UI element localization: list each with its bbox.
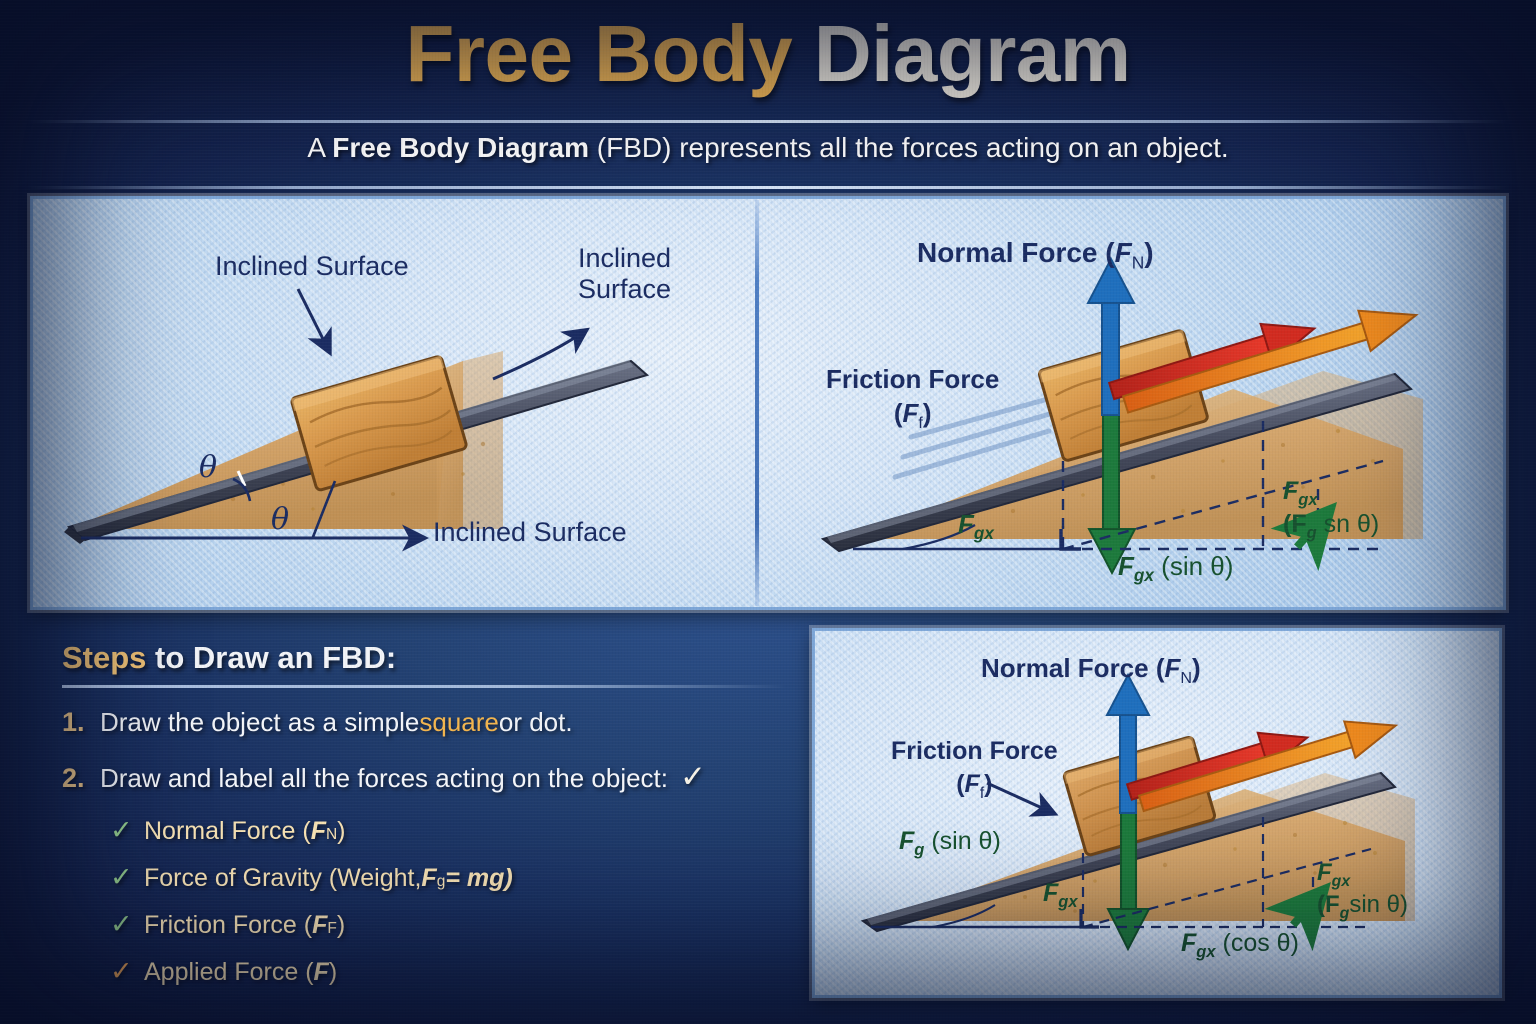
- friction-force-symbol: F: [902, 398, 918, 428]
- fgx-right-line2-bottom: (Fgsin θ): [1317, 891, 1408, 923]
- force-checklist-item-normal: ✓ Normal Force (FN): [110, 817, 802, 846]
- fgx-right-paren-bottom: (F: [1317, 891, 1340, 918]
- force-label-normal: Normal Force (: [144, 817, 311, 846]
- steps-heading-gold: Steps: [62, 640, 146, 675]
- theta-upper-label: θ: [199, 450, 217, 485]
- friction-force-text: Friction Force: [826, 363, 999, 397]
- fgx-right-symbol: F: [1283, 477, 1298, 505]
- steps-divider: [62, 685, 786, 688]
- fgx-sin-symbol: F: [1118, 551, 1134, 581]
- force-label-applied: Applied Force (: [144, 958, 314, 987]
- step-2-text-before: Draw and label all the forces acting on …: [100, 763, 668, 794]
- step-item-2: 2. Draw and label all the forces acting …: [62, 761, 802, 794]
- fg-sin-symbol: F: [899, 827, 914, 855]
- force-checklist-item-applied: ✓ Applied Force (F): [110, 958, 802, 987]
- friction-force-subscript-bottom: f: [980, 785, 984, 802]
- fgx-right-paren-sub-bottom: g: [1340, 905, 1350, 922]
- fg-sin-rest: (sin θ): [931, 827, 1000, 855]
- fgx-right-line1: Fgx: [1283, 477, 1379, 510]
- fgx-right-paren: (F: [1283, 510, 1307, 538]
- page-title-part1: Free Body: [405, 9, 813, 98]
- force-symbol-applied: F: [314, 958, 329, 987]
- inclined-surface-label-right-line2: Surface: [578, 274, 671, 305]
- force-label-friction: Friction Force (: [144, 911, 312, 940]
- fg-sin-subscript: g: [914, 841, 924, 859]
- friction-force-text-bottom: Friction Force: [891, 735, 1058, 768]
- check-icon-applied: ✓: [110, 958, 144, 985]
- friction-force-subscript: f: [918, 414, 922, 432]
- step-1-highlight: square: [419, 707, 499, 738]
- normal-force-subscript-bottom: N: [1180, 669, 1192, 687]
- step-item-1: 1. Draw the object as a simple square or…: [62, 707, 802, 738]
- force-checklist: ✓ Normal Force (FN) ✓ Force of Gravity (…: [110, 817, 802, 987]
- normal-force-text-bottom: Normal Force (: [981, 653, 1165, 683]
- step-2-number: 2.: [62, 763, 100, 794]
- subtitle-bold: Free Body Diagram: [332, 132, 589, 163]
- fgx-right-paren-rest: sn θ): [1317, 510, 1380, 538]
- inclined-surface-label-top: Inclined Surface: [215, 251, 409, 282]
- fgx-left-symbol-bottom: F: [1043, 879, 1058, 907]
- bottom-fbd-panel: Normal Force (FN) Friction Force (Ff) Fg…: [812, 628, 1502, 998]
- check-icon-gravity: ✓: [110, 864, 144, 891]
- fgx-right-label-bottom: Fgx (Fgsin θ): [1317, 859, 1408, 924]
- inclined-surface-label-right: Inclined Surface: [578, 243, 671, 306]
- top-panel-divider: [755, 200, 759, 606]
- inclined-surface-label-bottom: Inclined Surface: [433, 517, 627, 548]
- friction-force-symbol-line-bottom: (Ff): [891, 768, 1058, 804]
- fgx-right-paren-sub: g: [1307, 524, 1317, 542]
- fgx-sin-label-top: Fgx (sin θ): [1118, 551, 1233, 586]
- fgx-left-label-bottom: Fgx: [1043, 879, 1078, 912]
- fgx-right-subscript: gx: [1298, 491, 1317, 509]
- inclined-surface-label-right-line1: Inclined: [578, 243, 671, 274]
- check-icon-friction: ✓: [110, 911, 144, 938]
- normal-force-close: ): [1144, 237, 1153, 268]
- friction-force-symbol-bottom: F: [965, 770, 980, 798]
- normal-force-label-bottom: Normal Force (FN): [981, 653, 1201, 688]
- fgx-right-line1-bottom: Fgx: [1317, 859, 1408, 891]
- force-tail-friction: ): [337, 911, 345, 940]
- force-label-gravity: Force of Gravity (Weight,: [144, 864, 421, 893]
- force-subscript-friction: F: [327, 920, 336, 938]
- fgx-left-subscript-bottom: gx: [1058, 893, 1077, 911]
- fgx-right-symbol-bottom: F: [1317, 859, 1332, 886]
- fgx-sin-rest: (sin θ): [1161, 551, 1233, 581]
- header-divider-bottom: [26, 186, 1510, 189]
- subtitle-rest: (FBD) represents all the forces acting o…: [589, 132, 1229, 163]
- force-symbol-gravity: F: [421, 864, 436, 893]
- normal-force-label-top: Normal Force (FN): [917, 237, 1154, 274]
- fgx-cos-symbol: F: [1181, 929, 1196, 957]
- step-1-text-before: Draw the object as a simple: [100, 707, 419, 738]
- normal-force-subscript: N: [1132, 253, 1145, 273]
- step-2-check-icon: ✓: [680, 761, 706, 792]
- header-divider-top: [26, 120, 1510, 123]
- top-illustration-panel: θ θ Inclined Surface Inclined Surface In…: [30, 196, 1506, 610]
- normal-force-close-bottom: ): [1192, 653, 1201, 683]
- fgx-left-subscript: gx: [974, 523, 994, 543]
- normal-force-text: Normal Force (: [917, 237, 1115, 268]
- force-checklist-item-gravity: ✓ Force of Gravity (Weight, Fg = mg): [110, 864, 802, 893]
- fgx-left-symbol: F: [958, 509, 974, 539]
- theta-lower-label: θ: [271, 502, 289, 537]
- fgx-right-label-top: Fgx (Fg sn θ): [1283, 477, 1379, 544]
- fgx-right-paren-rest-bottom: sin θ): [1349, 891, 1408, 918]
- fgx-sin-subscript: gx: [1134, 565, 1154, 585]
- friction-force-symbol-line: (Ff): [826, 397, 999, 434]
- page-subtitle: A Free Body Diagram (FBD) represents all…: [0, 132, 1536, 164]
- page-title: Free Body Diagram: [0, 8, 1536, 100]
- force-subscript-normal: N: [326, 826, 337, 844]
- steps-heading: Steps to Draw an FBD:: [62, 640, 802, 676]
- step-1-text-after: or dot.: [499, 707, 573, 738]
- fgx-cos-subscript: gx: [1196, 943, 1215, 961]
- force-tail-applied: ): [329, 958, 337, 987]
- fgx-cos-label-bottom: Fgx (cos θ): [1181, 929, 1299, 962]
- force-checklist-item-friction: ✓ Friction Force (FF): [110, 911, 802, 940]
- force-tail-normal: ): [337, 817, 345, 846]
- fg-sin-label-bottom: Fg (sin θ): [899, 827, 1001, 860]
- normal-force-symbol: F: [1115, 237, 1132, 268]
- page-title-part2: Diagram: [814, 9, 1131, 98]
- steps-heading-white: to Draw an FBD:: [146, 640, 396, 675]
- fgx-right-line2: (Fg sn θ): [1283, 510, 1379, 543]
- fgx-left-label-top: Fgx: [958, 509, 994, 544]
- fgx-right-subscript-bottom: gx: [1332, 873, 1350, 890]
- fgx-cos-rest: (cos θ): [1223, 929, 1299, 957]
- friction-force-label-bottom: Friction Force (Ff): [891, 735, 1058, 804]
- force-symbol-normal: F: [311, 817, 326, 846]
- poster-root: Free Body Diagram A Free Body Diagram (F…: [0, 0, 1536, 1024]
- friction-force-label-top: Friction Force (Ff): [826, 363, 999, 434]
- subtitle-lead: A: [307, 132, 332, 163]
- normal-force-symbol-bottom: F: [1165, 653, 1181, 683]
- steps-section: Steps to Draw an FBD: 1. Draw the object…: [62, 640, 802, 990]
- step-1-number: 1.: [62, 707, 100, 738]
- check-icon-normal: ✓: [110, 817, 144, 844]
- force-symbol-friction: F: [312, 911, 327, 940]
- force-tail-gravity: = mg): [445, 864, 512, 893]
